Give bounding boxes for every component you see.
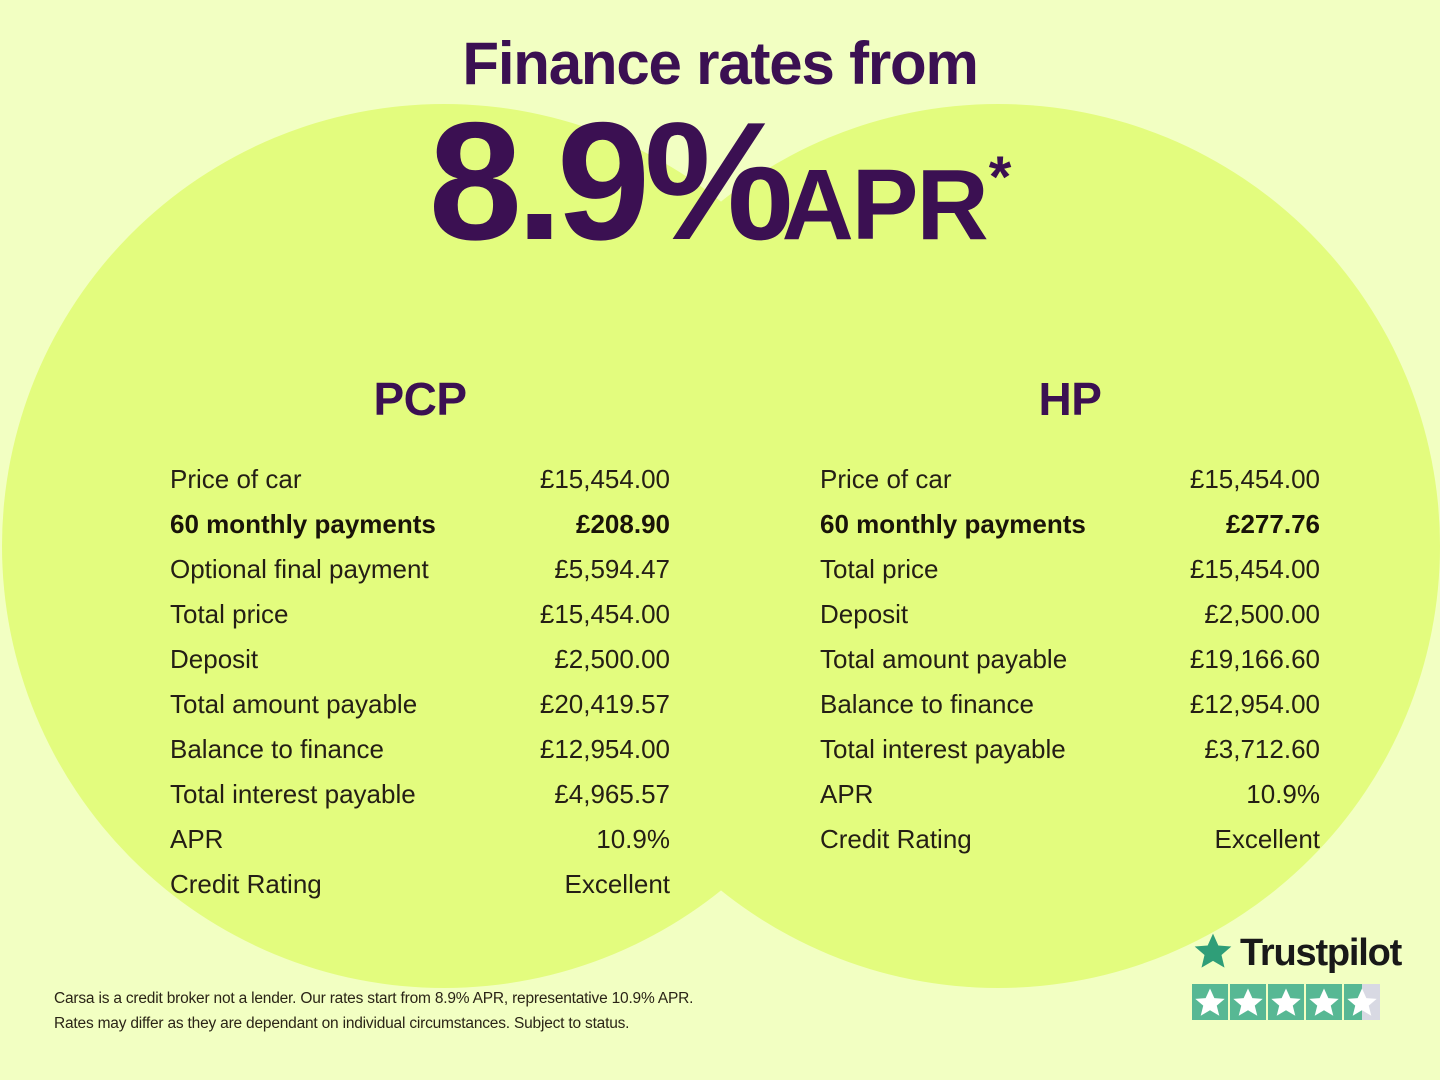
table-row: APR10.9%	[820, 771, 1320, 816]
plan-table-pcp: PCP Price of car£15,454.0060 monthly pay…	[170, 372, 670, 906]
row-value: £12,954.00	[540, 736, 670, 762]
table-row: Balance to finance£12,954.00	[820, 681, 1320, 726]
row-label: Credit Rating	[170, 871, 322, 897]
row-label: Optional final payment	[170, 556, 429, 582]
trustpilot-rating-stars	[1192, 984, 1392, 1020]
row-value: £15,454.00	[1190, 466, 1320, 492]
rating-star-full	[1268, 984, 1304, 1020]
row-label: Price of car	[170, 466, 302, 492]
table-row: Total interest payable£3,712.60	[820, 726, 1320, 771]
table-row: Deposit£2,500.00	[820, 591, 1320, 636]
table-row: Price of car£15,454.00	[170, 456, 670, 501]
row-value: Excellent	[1215, 826, 1321, 852]
table-row: Credit RatingExcellent	[170, 861, 670, 906]
table-row: Total price£15,454.00	[820, 546, 1320, 591]
trustpilot-wordmark: Trustpilot	[1192, 930, 1392, 976]
disclaimer-line-1: Carsa is a credit broker not a lender. O…	[54, 986, 814, 1011]
row-label: APR	[170, 826, 223, 852]
disclaimer-line-2: Rates may differ as they are dependant o…	[54, 1011, 814, 1036]
row-value: £2,500.00	[1204, 601, 1320, 627]
table-row: Total price£15,454.00	[170, 591, 670, 636]
row-label: Total interest payable	[820, 736, 1066, 762]
row-label: Total interest payable	[170, 781, 416, 807]
plan-title-pcp: PCP	[170, 372, 670, 426]
hero-block: Finance rates from 8.9%APR*	[0, 34, 1440, 262]
table-row: Total amount payable£19,166.60	[820, 636, 1320, 681]
plan-rows-pcp: Price of car£15,454.0060 monthly payment…	[170, 456, 670, 906]
row-value: £15,454.00	[1190, 556, 1320, 582]
row-label: Total price	[820, 556, 939, 582]
row-label: Total amount payable	[820, 646, 1067, 672]
row-value: £15,454.00	[540, 466, 670, 492]
hero-rate-value: 8.9%	[429, 87, 788, 275]
row-value: £277.76	[1226, 511, 1320, 537]
row-value: £19,166.60	[1190, 646, 1320, 672]
finance-tables: PCP Price of car£15,454.0060 monthly pay…	[0, 372, 1440, 906]
row-label: 60 monthly payments	[170, 511, 436, 537]
plan-table-hp: HP Price of car£15,454.0060 monthly paym…	[820, 372, 1320, 906]
row-label: Deposit	[170, 646, 258, 672]
disclaimer: Carsa is a credit broker not a lender. O…	[54, 986, 814, 1036]
hero-rate-unit: APR	[782, 149, 987, 261]
promo-canvas: Finance rates from 8.9%APR* PCP Price of…	[0, 0, 1440, 1080]
hero-kicker: Finance rates from	[0, 34, 1440, 94]
row-value: £208.90	[576, 511, 670, 537]
row-label: Total amount payable	[170, 691, 417, 717]
table-row: 60 monthly payments£208.90	[170, 501, 670, 546]
row-label: Deposit	[820, 601, 908, 627]
row-label: Balance to finance	[170, 736, 384, 762]
hero-footnote-marker: *	[989, 145, 1012, 210]
table-row: Optional final payment£5,594.47	[170, 546, 670, 591]
trustpilot-badge[interactable]: Trustpilot	[1192, 930, 1392, 1020]
trustpilot-name: Trustpilot	[1240, 934, 1401, 972]
row-value: £5,594.47	[554, 556, 670, 582]
star-icon	[1192, 931, 1234, 976]
table-row: Total interest payable£4,965.57	[170, 771, 670, 816]
table-row: Price of car£15,454.00	[820, 456, 1320, 501]
table-row: Balance to finance£12,954.00	[170, 726, 670, 771]
row-label: Price of car	[820, 466, 952, 492]
row-value: £12,954.00	[1190, 691, 1320, 717]
row-value: £4,965.57	[554, 781, 670, 807]
table-row: 60 monthly payments£277.76	[820, 501, 1320, 546]
rating-star-half	[1344, 984, 1380, 1020]
table-row: Total amount payable£20,419.57	[170, 681, 670, 726]
row-label: Total price	[170, 601, 289, 627]
hero-rate-line: 8.9%APR*	[0, 102, 1440, 262]
row-label: APR	[820, 781, 873, 807]
rating-star-full	[1306, 984, 1342, 1020]
row-value: 10.9%	[1246, 781, 1320, 807]
row-label: 60 monthly payments	[820, 511, 1086, 537]
row-value: £15,454.00	[540, 601, 670, 627]
row-value: Excellent	[565, 871, 671, 897]
row-value: £2,500.00	[554, 646, 670, 672]
table-row: Deposit£2,500.00	[170, 636, 670, 681]
table-row: APR10.9%	[170, 816, 670, 861]
table-row: Credit RatingExcellent	[820, 816, 1320, 861]
rating-star-full	[1192, 984, 1228, 1020]
row-value: 10.9%	[596, 826, 670, 852]
plan-rows-hp: Price of car£15,454.0060 monthly payment…	[820, 456, 1320, 861]
rating-star-full	[1230, 984, 1266, 1020]
plan-title-hp: HP	[820, 372, 1320, 426]
row-value: £20,419.57	[540, 691, 670, 717]
row-value: £3,712.60	[1204, 736, 1320, 762]
row-label: Balance to finance	[820, 691, 1034, 717]
row-label: Credit Rating	[820, 826, 972, 852]
